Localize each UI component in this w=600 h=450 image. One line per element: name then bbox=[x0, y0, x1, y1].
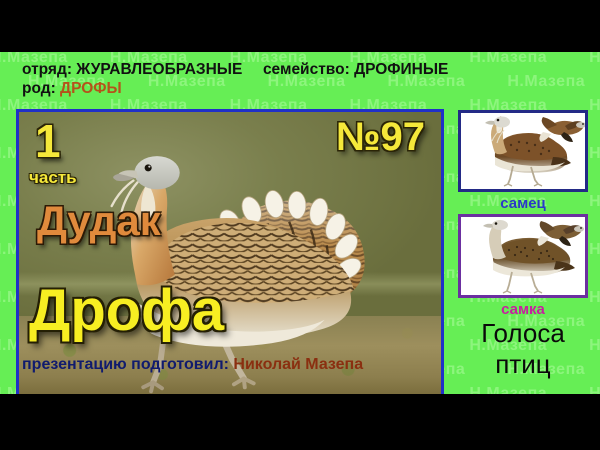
genus-value: ДРОФЫ bbox=[60, 80, 122, 97]
taxonomy-line-order-family: отряд: ЖУРАВЛЕОБРАЗНЫЕ семейство: ДРОФИН… bbox=[22, 60, 448, 79]
part-word: часть bbox=[29, 168, 77, 188]
part-number: 1 bbox=[35, 118, 61, 164]
main-bird-photo: 1 часть №97 Дудак Дрофа bbox=[16, 109, 444, 394]
letterbox-top bbox=[0, 0, 600, 52]
watermark-text: Н.Мазепа bbox=[589, 52, 600, 66]
watermark-text: Н.Мазепа bbox=[589, 193, 600, 210]
voices-line-2: птиц bbox=[452, 349, 594, 380]
taxonomy-header: отряд: ЖУРАВЛЕОБРАЗНЫЕ семейство: ДРОФИН… bbox=[22, 60, 448, 99]
panel-male-label: самец bbox=[458, 195, 588, 212]
watermark-text: Н.Мазепа bbox=[589, 385, 600, 394]
credit-label: презентацию подготовил: bbox=[22, 356, 229, 373]
family-value: ДРОФИНЫЕ bbox=[354, 61, 448, 78]
slide-screen: Н.МазепаН.МазепаН.МазепаН.МазепаН.Мазепа… bbox=[0, 0, 600, 450]
taxonomy-line-genus: род: ДРОФЫ bbox=[22, 79, 448, 98]
watermark-text: Н.Мазепа bbox=[589, 289, 600, 306]
order-label: отряд: bbox=[22, 61, 72, 78]
bird-name-main: Дрофа bbox=[29, 282, 224, 340]
watermark-text: Н.Мазепа bbox=[589, 145, 600, 162]
panel-male-illustration[interactable] bbox=[458, 110, 588, 192]
bird-name-alternate: Дудак bbox=[37, 200, 161, 242]
letterbox-bottom bbox=[0, 394, 600, 450]
family-label: семейство: bbox=[263, 61, 350, 78]
watermark-text: Н.Мазепа bbox=[589, 97, 600, 114]
voices-line-1: Голоса bbox=[452, 318, 594, 349]
credit-author: Николай Мазепа bbox=[233, 356, 363, 373]
order-value: ЖУРАВЛЕОБРАЗНЫЕ bbox=[76, 61, 242, 78]
watermark-text: Н.Мазепа bbox=[469, 385, 547, 394]
female-bustard-drawing bbox=[461, 217, 585, 295]
watermark-text: Н.Мазепа bbox=[589, 241, 600, 258]
presentation-slide: Н.МазепаН.МазепаН.МазепаН.МазепаН.Мазепа… bbox=[0, 52, 600, 394]
bird-voices-block: Голоса птиц bbox=[452, 318, 594, 379]
genus-label: род: bbox=[22, 80, 56, 97]
presentation-credit: презентацию подготовил: Николай Мазепа bbox=[22, 356, 363, 374]
panel-female-label: самка bbox=[458, 301, 588, 318]
watermark-text: Н.Мазепа bbox=[469, 52, 547, 66]
panel-female-illustration[interactable] bbox=[458, 214, 588, 298]
watermark-text: Н.Мазепа bbox=[507, 73, 585, 90]
issue-number: №97 bbox=[336, 117, 425, 157]
male-bustard-drawing bbox=[461, 113, 585, 189]
